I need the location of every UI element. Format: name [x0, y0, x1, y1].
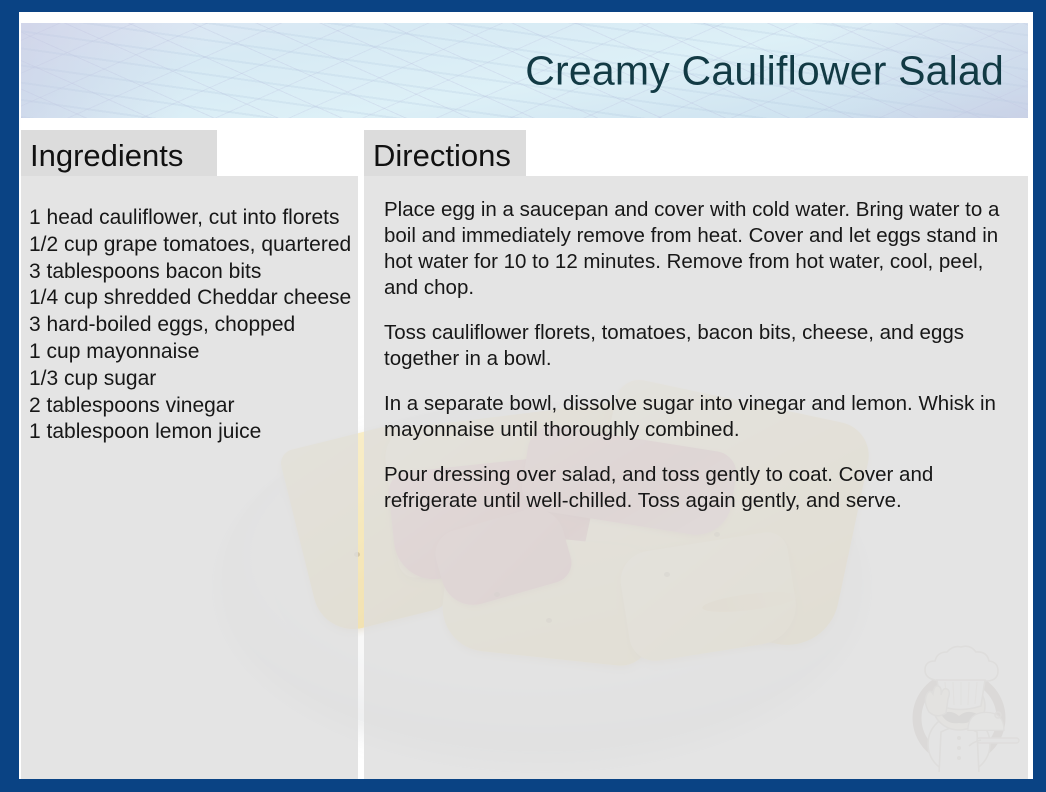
direction-paragraph: Place egg in a saucepan and cover with c… [384, 197, 1014, 301]
direction-paragraph: In a separate bowl, dissolve sugar into … [384, 391, 1014, 443]
direction-paragraph: Toss cauliflower florets, tomatoes, baco… [384, 320, 1014, 372]
directions-heading-tab: Directions [364, 130, 526, 176]
title-banner: Creamy Cauliflower Salad [21, 23, 1028, 118]
ingredients-heading: Ingredients [30, 138, 183, 174]
ingredients-panel: 1 head cauliflower, cut into florets 1/2… [21, 176, 358, 779]
ingredient-item: 3 tablespoons bacon bits [29, 259, 354, 286]
ingredient-item: 1 cup mayonnaise [29, 339, 354, 366]
ingredient-item: 1/3 cup sugar [29, 366, 354, 393]
ingredients-list: 1 head cauliflower, cut into florets 1/2… [29, 205, 354, 446]
ingredient-item: 1 tablespoon lemon juice [29, 419, 354, 446]
directions-heading: Directions [373, 138, 511, 174]
ingredient-item: 1 head cauliflower, cut into florets [29, 205, 354, 232]
direction-paragraph: Pour dressing over salad, and toss gentl… [384, 462, 1014, 514]
ingredients-heading-tab: Ingredients [21, 130, 217, 176]
recipe-card: Creamy Cauliflower Salad [0, 0, 1046, 792]
ingredient-item: 3 hard-boiled eggs, chopped [29, 312, 354, 339]
page-title: Creamy Cauliflower Salad [525, 47, 1004, 94]
ingredient-item: 1/2 cup grape tomatoes, quartered [29, 232, 354, 259]
recipe-page: Creamy Cauliflower Salad [19, 12, 1033, 779]
ingredient-item: 1/4 cup shredded Cheddar cheese [29, 285, 354, 312]
directions-text: Place egg in a saucepan and cover with c… [384, 197, 1014, 514]
ingredient-item: 2 tablespoons vinegar [29, 393, 354, 420]
directions-panel: Place egg in a saucepan and cover with c… [364, 176, 1028, 779]
